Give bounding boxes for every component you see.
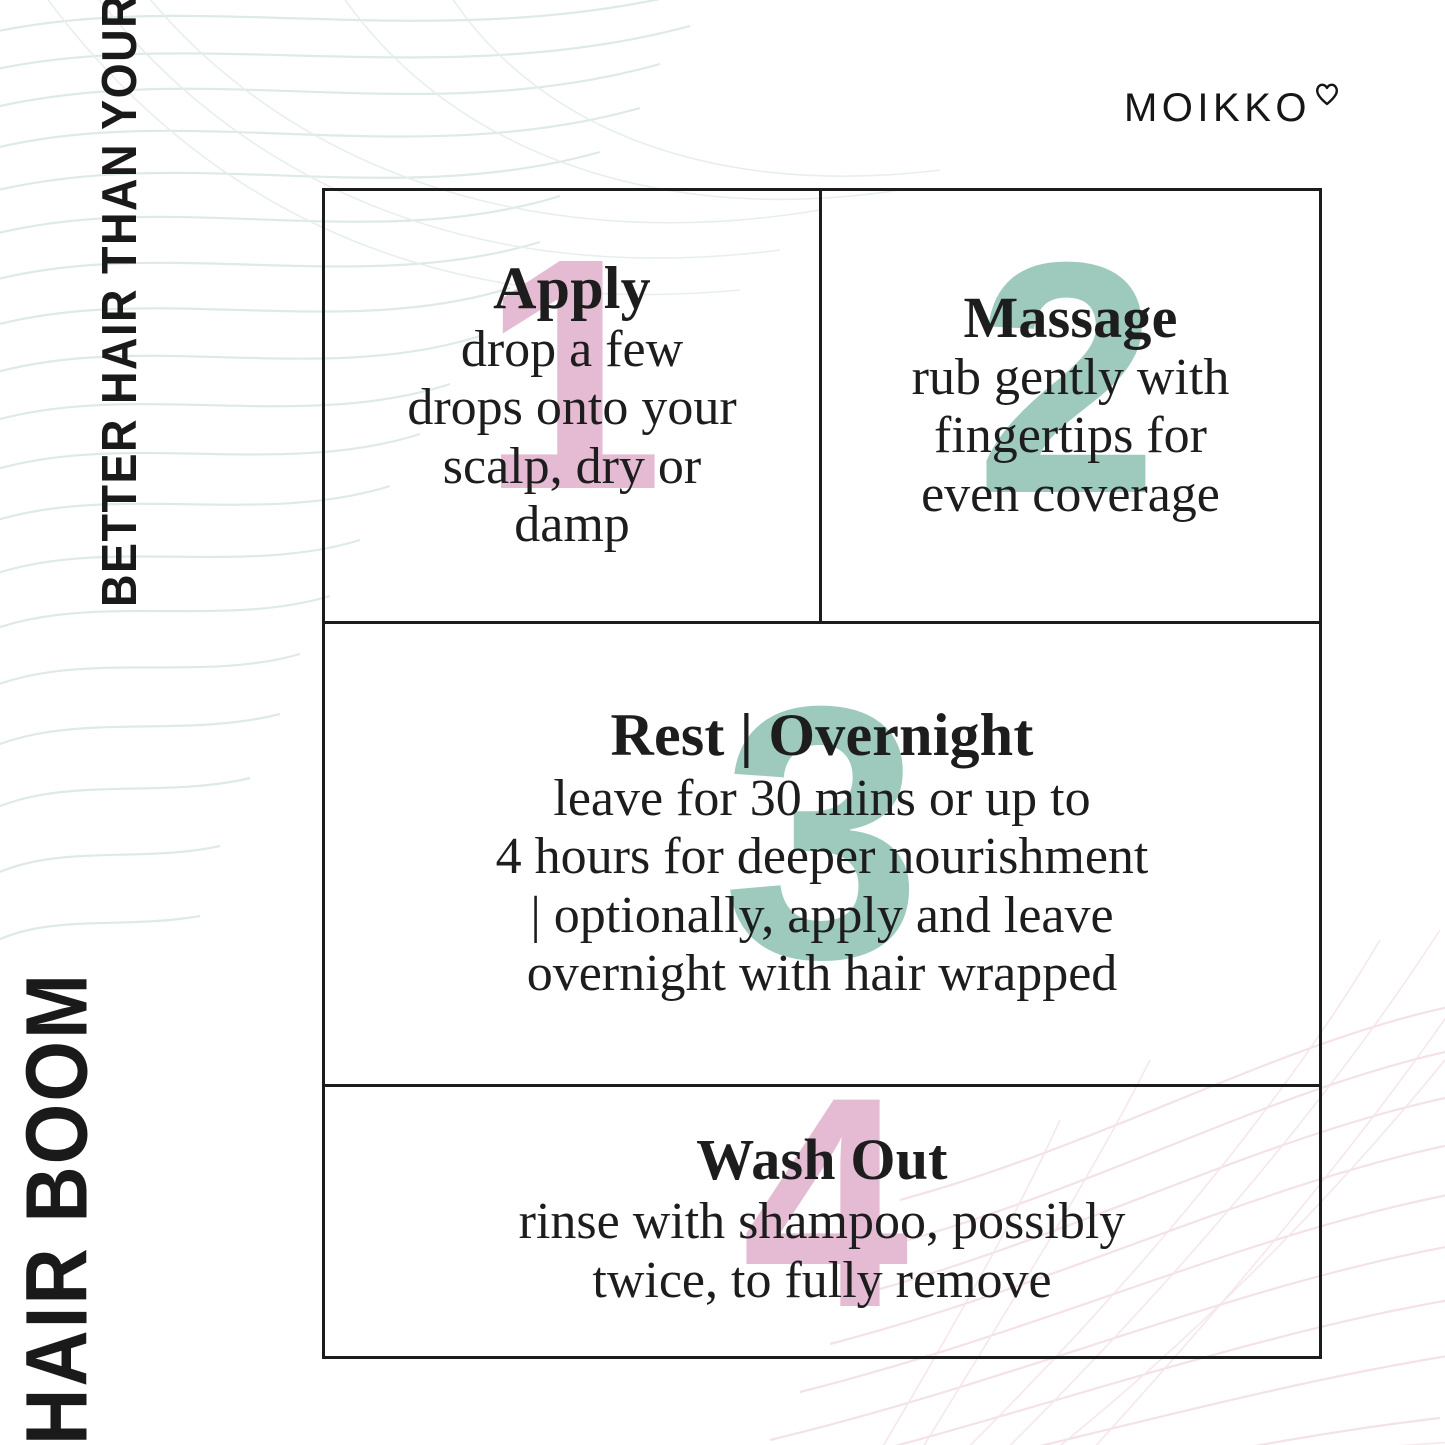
step-3-title: Rest | Overnight	[335, 705, 1309, 766]
step-1-body-line: damp	[335, 496, 809, 554]
steps-grid: 1 Apply drop a few drops onto your scalp…	[322, 188, 1322, 1359]
brand-logo-text: MOIKKO	[1124, 88, 1311, 128]
step-3-body: leave for 30 mins or up to 4 hours for d…	[335, 770, 1309, 1003]
steps-row-bottom: 4 Wash Out rinse with shampoo, possibly …	[325, 1084, 1319, 1353]
step-2-text: Massage rub gently with fingertips for e…	[832, 288, 1309, 524]
poster-canvas: MOIKKO HAIR BOOM BETTER HAIR THAN YOUR E…	[0, 0, 1445, 1445]
steps-row-top: 1 Apply drop a few drops onto your scalp…	[325, 191, 1319, 621]
step-1-body-line: drops onto your	[335, 379, 809, 437]
step-4-body-line: twice, to fully remove	[335, 1252, 1309, 1310]
step-1-body-line: drop a few	[335, 321, 809, 379]
step-1-text: Apply drop a few drops onto your scalp, …	[335, 258, 809, 554]
step-2-body-line: rub gently with	[832, 349, 1309, 407]
step-cell-3: 3 Rest | Overnight leave for 30 mins or …	[325, 624, 1319, 1084]
tagline-vertical: BETTER HAIR THAN YOUR EX	[91, 0, 148, 607]
step-3-text: Rest | Overnight leave for 30 mins or up…	[335, 705, 1309, 1003]
step-4-body-line: rinse with shampoo, possibly	[335, 1193, 1309, 1251]
step-2-title: Massage	[832, 288, 1309, 347]
heart-icon	[1314, 82, 1340, 111]
brand-logo: MOIKKO	[1124, 88, 1340, 128]
step-2-body: rub gently with fingertips for even cove…	[832, 349, 1309, 524]
step-4-body: rinse with shampoo, possibly twice, to f…	[335, 1193, 1309, 1309]
step-3-body-line: leave for 30 mins or up to	[335, 770, 1309, 828]
tagline-prefix: BETTER HAIR THAN YOUR	[91, 0, 148, 607]
step-2-body-line: fingertips for	[832, 407, 1309, 465]
step-2-body-line: even coverage	[832, 466, 1309, 524]
product-name-vertical: HAIR BOOM	[6, 972, 108, 1445]
step-3-body-line: 4 hours for deeper nourishment	[335, 828, 1309, 886]
step-cell-2: 2 Massage rub gently with fingertips for…	[819, 191, 1319, 621]
step-cell-4: 4 Wash Out rinse with shampoo, possibly …	[325, 1087, 1319, 1353]
step-3-body-line: overnight with hair wrapped	[335, 945, 1309, 1003]
step-1-body-line: scalp, dry or	[335, 438, 809, 496]
step-4-title: Wash Out	[335, 1130, 1309, 1189]
step-1-body: drop a few drops onto your scalp, dry or…	[335, 321, 809, 554]
step-3-body-line: | optionally, apply and leave	[335, 887, 1309, 945]
step-cell-1: 1 Apply drop a few drops onto your scalp…	[325, 191, 819, 621]
step-1-title: Apply	[335, 258, 809, 319]
step-4-text: Wash Out rinse with shampoo, possibly tw…	[335, 1130, 1309, 1310]
side-lockup: HAIR BOOM BETTER HAIR THAN YOUR EX	[0, 0, 300, 1445]
steps-row-middle: 3 Rest | Overnight leave for 30 mins or …	[325, 621, 1319, 1084]
